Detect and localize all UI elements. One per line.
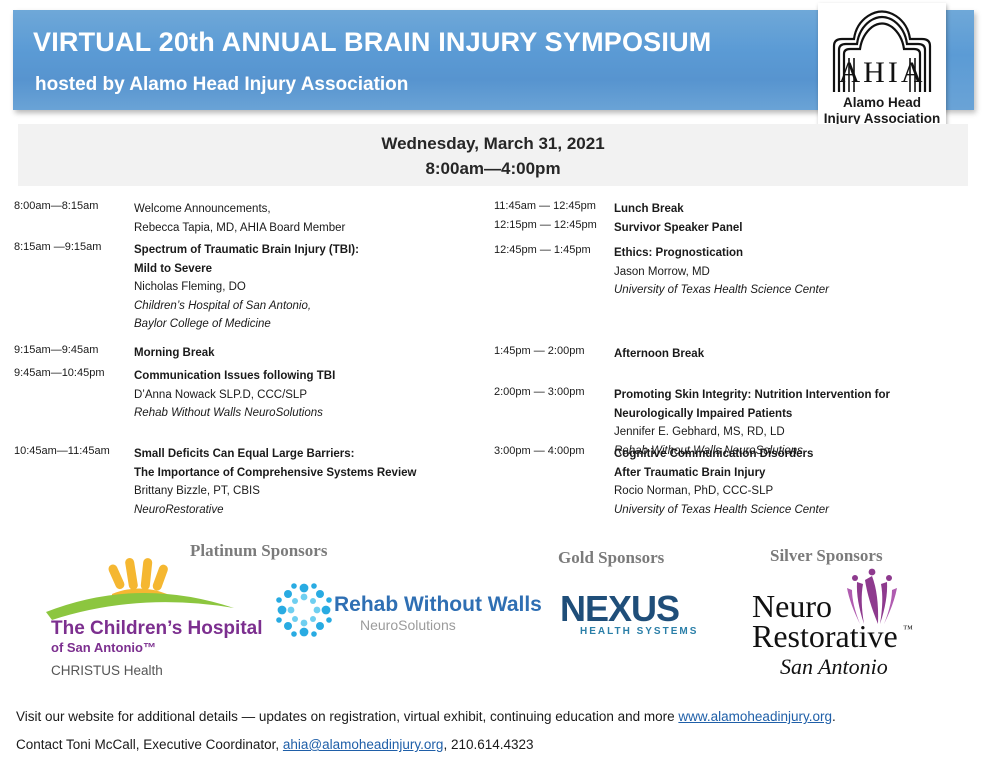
- agenda-slot-body: Spectrum of Traumatic Brain Injury (TBI)…: [134, 241, 484, 334]
- nexus-name: NEXUS: [560, 588, 679, 630]
- ahia-acronym: AHIA: [818, 56, 946, 90]
- agenda-slot-body: Lunch Break: [614, 200, 964, 219]
- page-title: VIRTUAL 20th ANNUAL BRAIN INJURY SYMPOSI…: [33, 27, 711, 58]
- neurorestorative-location: San Antonio: [780, 654, 888, 680]
- agenda-session-title: Small Deficits Can Equal Large Barriers:: [134, 445, 484, 464]
- agenda-slot-time: 11:45am — 12:45pm: [494, 200, 612, 212]
- ahia-org-name: Alamo Head Injury Association: [818, 95, 946, 127]
- agenda-session-title: Communication Issues following TBI: [134, 367, 484, 386]
- rehab-without-walls-tagline: NeuroSolutions: [360, 617, 456, 633]
- footer-website-text: Visit our website for additional details…: [16, 709, 678, 724]
- agenda-slot-time: 8:00am—8:15am: [14, 200, 132, 212]
- agenda-speaker: Welcome Announcements,: [134, 200, 484, 219]
- agenda-slot: 10:45am—11:45amSmall Deficits Can Equal …: [14, 445, 484, 519]
- childrens-hospital-name: The Children’s Hospital: [51, 618, 263, 640]
- agenda-slot-time: 10:45am—11:45am: [14, 445, 132, 457]
- agenda-slot-body: Survivor Speaker Panel: [614, 219, 964, 238]
- agenda-session-title: Survivor Speaker Panel: [614, 219, 964, 238]
- agenda-slot: 8:15am —9:15amSpectrum of Traumatic Brai…: [14, 241, 484, 334]
- footer: Visit our website for additional details…: [16, 703, 971, 759]
- agenda-slot: 11:45am — 12:45pmLunch Break: [494, 200, 964, 219]
- agenda-slot: 9:15am—9:45amMorning Break: [14, 344, 484, 363]
- agenda-speaker: Brittany Bizzle, PT, CBIS: [134, 482, 484, 501]
- page-subtitle: hosted by Alamo Head Injury Association: [35, 74, 408, 96]
- agenda-session-title: Neurologically Impaired Patients: [614, 405, 964, 424]
- agenda-speaker: Rocio Norman, PhD, CCC-SLP: [614, 482, 964, 501]
- agenda-speaker: Nicholas Fleming, DO: [134, 278, 484, 297]
- agenda-slot: 3:00pm — 4:00pmCognitive Communication D…: [494, 445, 964, 519]
- agenda-slot-time: 8:15am —9:15am: [14, 241, 132, 253]
- agenda-affiliation: Children’s Hospital of San Antonio,: [134, 297, 484, 316]
- ahia-logo: AHIA Alamo Head Injury Association: [818, 3, 946, 134]
- agenda-slot: 12:45pm — 1:45pmEthics: PrognosticationJ…: [494, 244, 964, 300]
- event-hours: 8:00am—4:00pm: [18, 159, 968, 179]
- agenda-slot: 8:00am—8:15amWelcome Announcements,Rebec…: [14, 200, 484, 237]
- header-banner: VIRTUAL 20th ANNUAL BRAIN INJURY SYMPOSI…: [13, 10, 902, 110]
- agenda-slot-time: 3:00pm — 4:00pm: [494, 445, 612, 457]
- footer-contact-text: Contact Toni McCall, Executive Coordinat…: [16, 737, 283, 752]
- agenda-speaker: D’Anna Nowack SLP.D, CCC/SLP: [134, 386, 484, 405]
- event-date: Wednesday, March 31, 2021: [18, 134, 968, 154]
- rehab-without-walls-name: Rehab Without Walls: [334, 593, 542, 617]
- agenda-slot: 1:45pm — 2:00pmAfternoon Break: [494, 345, 964, 364]
- agenda-slot-time: 2:00pm — 3:00pm: [494, 386, 612, 398]
- agenda-slot-body: Welcome Announcements,Rebecca Tapia, MD,…: [134, 200, 484, 237]
- agenda-session-title: After Traumatic Brain Injury: [614, 464, 964, 483]
- agenda: 8:00am—8:15amWelcome Announcements,Rebec…: [0, 200, 985, 525]
- agenda-session-title: Afternoon Break: [614, 345, 964, 364]
- agenda-session-title: Mild to Severe: [134, 260, 484, 279]
- website-link[interactable]: www.alamoheadinjury.org: [678, 709, 832, 724]
- ahia-org-name-line1: Alamo Head: [818, 95, 946, 111]
- neurorestorative-name-line2: Restorative: [752, 618, 898, 655]
- agenda-affiliation: NeuroRestorative: [134, 501, 484, 520]
- footer-website-line: Visit our website for additional details…: [16, 703, 971, 731]
- email-link[interactable]: ahia@alamoheadinjury.org: [283, 737, 444, 752]
- agenda-session-title: The Importance of Comprehensive Systems …: [134, 464, 484, 483]
- agenda-session-title: Ethics: Prognostication: [614, 244, 964, 263]
- burst-dots-icon: [276, 624, 332, 641]
- neurorestorative-trademark: ™: [903, 624, 913, 635]
- sponsors-section: Platinum Sponsors Gold Sponsors Silver S…: [0, 528, 985, 668]
- agenda-slot-time: 1:45pm — 2:00pm: [494, 345, 612, 357]
- agenda-slot-time: 12:45pm — 1:45pm: [494, 244, 612, 256]
- agenda-slot-time: 9:15am—9:45am: [14, 344, 132, 356]
- agenda-affiliation: Baylor College of Medicine: [134, 315, 484, 334]
- silver-sponsors-heading: Silver Sponsors: [770, 546, 883, 566]
- agenda-slot-time: 9:45am—10:45pm: [14, 367, 132, 379]
- childrens-hospital-location: of San Antonio™: [51, 640, 156, 655]
- agenda-slot-body: Afternoon Break: [614, 345, 964, 364]
- agenda-slot-body: Cognitive Communication DisordersAfter T…: [614, 445, 964, 519]
- agenda-slot-body: Ethics: PrognosticationJason Morrow, MDU…: [614, 244, 964, 300]
- event-date-bar: Wednesday, March 31, 2021 8:00am—4:00pm: [18, 124, 968, 186]
- footer-phone-text: , 210.614.4323: [443, 737, 533, 752]
- sponsor-logo-rehab-without-walls: Rehab Without Walls NeuroSolutions: [276, 583, 496, 642]
- agenda-session-title: Morning Break: [134, 344, 484, 363]
- gold-sponsors-heading: Gold Sponsors: [558, 548, 664, 568]
- footer-contact-line: Contact Toni McCall, Executive Coordinat…: [16, 731, 971, 759]
- footer-website-suffix: .: [832, 709, 836, 724]
- childrens-hospital-parent: CHRISTUS Health: [51, 663, 163, 678]
- agenda-slot: 9:45am—10:45pmCommunication Issues follo…: [14, 367, 484, 423]
- agenda-session-title: Cognitive Communication Disorders: [614, 445, 964, 464]
- agenda-slot-body: Morning Break: [134, 344, 484, 363]
- agenda-session-title: Promoting Skin Integrity: Nutrition Inte…: [614, 386, 964, 405]
- agenda-session-title: Lunch Break: [614, 200, 964, 219]
- agenda-slot-time: 12:15pm — 12:45pm: [494, 219, 612, 231]
- agenda-session-title: Spectrum of Traumatic Brain Injury (TBI)…: [134, 241, 484, 260]
- agenda-slot-body: Small Deficits Can Equal Large Barriers:…: [134, 445, 484, 519]
- agenda-affiliation: University of Texas Health Science Cente…: [614, 281, 964, 300]
- agenda-speaker: Jennifer E. Gebhard, MS, RD, LD: [614, 423, 964, 442]
- sponsor-logo-childrens-hospital: The Children’s Hospital of San Antonio™ …: [42, 558, 252, 625]
- agenda-speaker: Rebecca Tapia, MD, AHIA Board Member: [134, 219, 484, 238]
- nexus-tagline: HEALTH SYSTEMS: [580, 626, 698, 637]
- agenda-affiliation: Rehab Without Walls NeuroSolutions: [134, 404, 484, 423]
- agenda-speaker: Jason Morrow, MD: [614, 263, 964, 282]
- agenda-slot-body: Communication Issues following TBID’Anna…: [134, 367, 484, 423]
- agenda-affiliation: University of Texas Health Science Cente…: [614, 501, 964, 520]
- agenda-slot: 12:15pm — 12:45pmSurvivor Speaker Panel: [494, 219, 964, 238]
